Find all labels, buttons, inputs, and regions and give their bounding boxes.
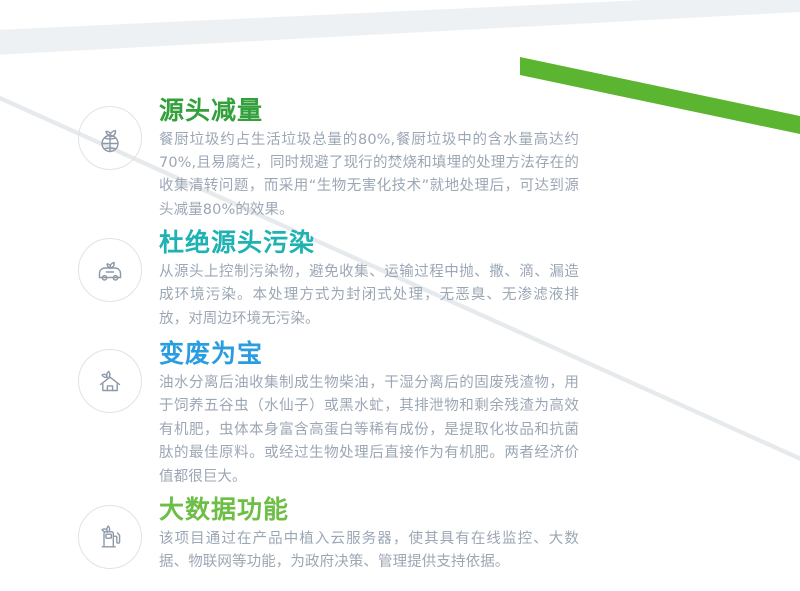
- feature-body: 杜绝源头污染 从源头上控制污染物，避免收集、运输过程中抛、撒、滴、漏造成环境污染…: [159, 228, 579, 331]
- fruit-leaf-icon: [78, 106, 142, 170]
- feature-body: 变废为宝 油水分离后油收集制成生物柴油，干湿分离后的固废残渣物，用于饲养五谷虫（…: [159, 339, 579, 489]
- feature-item: 杜绝源头污染 从源头上控制污染物，避免收集、运输过程中抛、撒、滴、漏造成环境污染…: [0, 228, 800, 331]
- eco-fuel-pump-icon: [78, 505, 142, 569]
- feature-text: 该项目通过在产品中植入云服务器，使其具有在线监控、大数据、物联网等功能，为政府决…: [159, 528, 579, 575]
- feature-text: 从源头上控制污染物，避免收集、运输过程中抛、撒、滴、漏造成环境污染。本处理方式为…: [159, 261, 579, 331]
- feature-title: 变废为宝: [159, 339, 579, 369]
- feature-text: 餐厨垃圾约占生活垃圾总量的80%,餐厨垃圾中的含水量高达约70%,且易腐烂，同时…: [159, 129, 579, 223]
- feature-title: 源头减量: [159, 96, 579, 126]
- feature-item: 变废为宝 油水分离后油收集制成生物柴油，干湿分离后的固废残渣物，用于饲养五谷虫（…: [0, 339, 800, 489]
- eco-house-icon: [78, 349, 142, 413]
- feature-body: 源头减量 餐厨垃圾约占生活垃圾总量的80%,餐厨垃圾中的含水量高达约70%,且易…: [159, 96, 579, 222]
- feature-title: 大数据功能: [159, 495, 579, 525]
- feature-list: 源头减量 餐厨垃圾约占生活垃圾总量的80%,餐厨垃圾中的含水量高达约70%,且易…: [0, 0, 800, 575]
- feature-item: 源头减量 餐厨垃圾约占生活垃圾总量的80%,餐厨垃圾中的含水量高达约70%,且易…: [0, 96, 800, 222]
- feature-text: 油水分离后油收集制成生物柴油，干湿分离后的固废残渣物，用于饲养五谷虫（水仙子）或…: [159, 372, 579, 489]
- feature-item: 大数据功能 该项目通过在产品中植入云服务器，使其具有在线监控、大数据、物联网等功…: [0, 495, 800, 574]
- eco-truck-icon: [78, 238, 142, 302]
- feature-title: 杜绝源头污染: [159, 228, 579, 258]
- feature-body: 大数据功能 该项目通过在产品中植入云服务器，使其具有在线监控、大数据、物联网等功…: [159, 495, 579, 574]
